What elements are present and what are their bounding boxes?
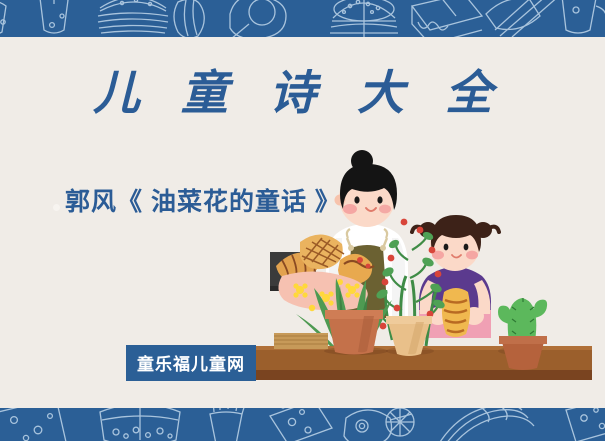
two-girls-baking-plants-scene-icon <box>252 150 592 390</box>
bullet-dot-icon <box>53 204 60 211</box>
illustration-scene <box>252 150 592 390</box>
food-line-art-pattern-icon <box>0 408 605 441</box>
bottom-decorative-band <box>0 408 605 441</box>
poster-canvas: 儿 童 诗 大 全 郭风《 油菜花的童话 》 <box>0 0 605 441</box>
page-title: 儿 童 诗 大 全 <box>93 66 506 120</box>
top-decorative-band <box>0 0 605 37</box>
site-watermark-badge: 童乐福儿童网 <box>126 345 256 381</box>
food-line-art-pattern-icon <box>0 0 605 37</box>
